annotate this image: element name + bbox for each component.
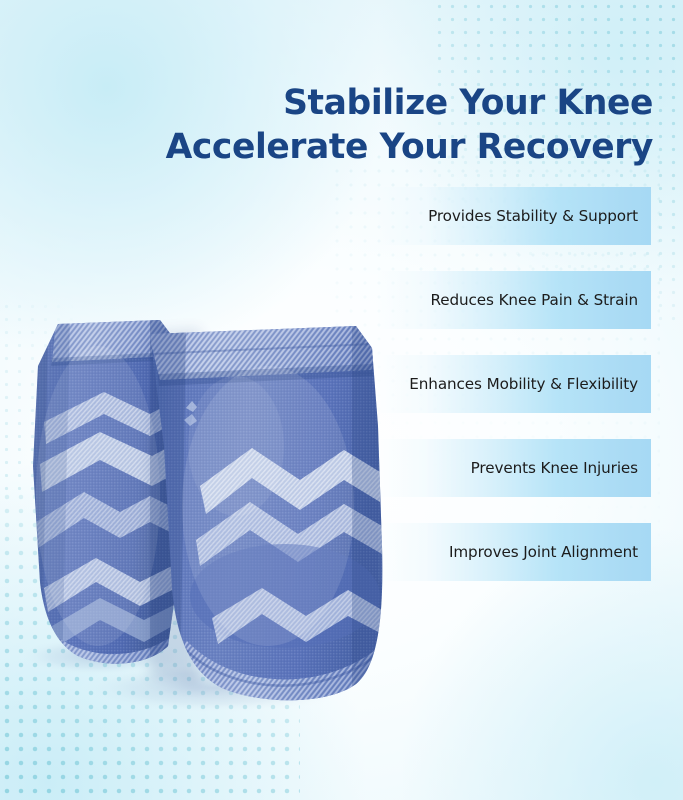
page-title: Stabilize Your Knee Accelerate Your Reco… [153,82,653,170]
feature-item-pain-relief[interactable]: Reduces Knee Pain & Strain [377,271,651,329]
feature-label: Enhances Mobility & Flexibility [409,375,651,393]
product-image-knee-sleeves [0,296,420,716]
headline-line-2: Accelerate Your Recovery [153,126,653,170]
product-feature-poster: Stabilize Your Knee Accelerate Your Reco… [0,0,683,800]
feature-item-injury-prevention[interactable]: Prevents Knee Injuries [377,439,651,497]
feature-item-stability[interactable]: Provides Stability & Support [377,187,651,245]
feature-label: Provides Stability & Support [428,207,651,225]
feature-item-mobility[interactable]: Enhances Mobility & Flexibility [377,355,651,413]
feature-label: Reduces Knee Pain & Strain [430,291,651,309]
headline-line-1: Stabilize Your Knee [283,83,653,123]
feature-label: Prevents Knee Injuries [471,459,651,477]
feature-label: Improves Joint Alignment [449,543,651,561]
feature-list: Provides Stability & Support Reduces Kne… [377,187,651,581]
feature-item-joint-alignment[interactable]: Improves Joint Alignment [377,523,651,581]
